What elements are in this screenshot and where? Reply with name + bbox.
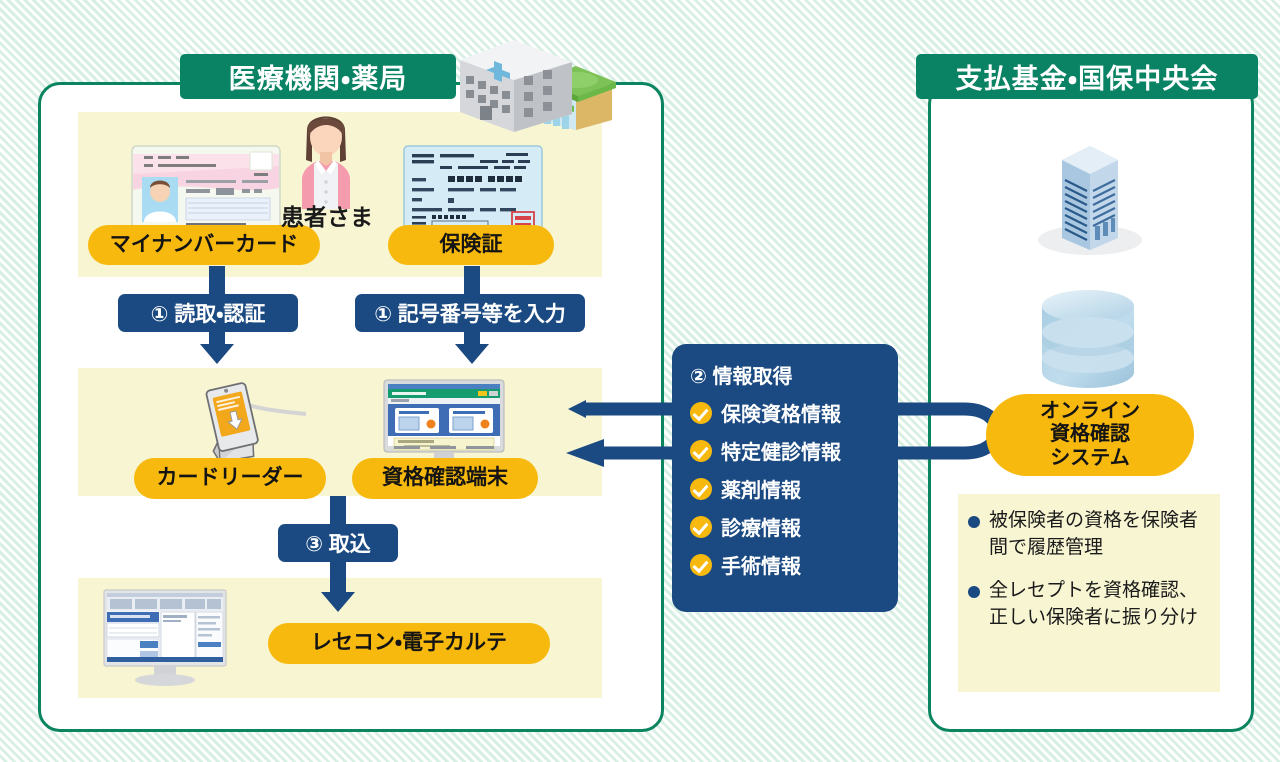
info-item-label: 保険資格情報: [721, 398, 841, 427]
info-item: 薬剤情報: [690, 474, 898, 503]
my-number-card-image: [130, 144, 282, 236]
info-item-label: 特定健診情報: [721, 436, 841, 465]
database-icon: [1032, 282, 1144, 394]
note-item: 全レセプトを資格確認、正しい保険者に振り分け: [968, 578, 1214, 632]
system-pill-line-2: 資格確認: [1050, 423, 1130, 447]
panel-header-medical-institution: 医療機関・薬局: [180, 54, 456, 99]
health-insurance-card-image: [402, 144, 544, 236]
info-item: 特定健診情報: [690, 436, 898, 465]
step-badge-import: ③ 取込: [278, 524, 398, 562]
pill-online-verification-system[interactable]: オンライン 資格確認 システム: [986, 394, 1194, 476]
note-text: 被保険者の資格を保険者間で履歴管理: [989, 508, 1214, 562]
step-badge-enter-number: ① 記号番号等を入力: [355, 294, 585, 332]
diagram-canvas: 医療機関・薬局 支払基金・国保中央会: [0, 0, 1280, 762]
panel-header-payment-fund: 支払基金・国保中央会: [916, 54, 1258, 99]
check-circle-icon: [690, 440, 712, 462]
info-item: 保険資格情報: [690, 398, 898, 427]
check-circle-icon: [690, 554, 712, 576]
pill-health-insurance-card[interactable]: 保険証: [388, 225, 554, 265]
note-item: 被保険者の資格を保険者間で履歴管理: [968, 508, 1214, 562]
bullet-dot-icon: [968, 516, 980, 528]
pill-receipt-computer-karte[interactable]: レセコン・電子カルテ: [268, 623, 550, 664]
patient-avatar-icon: [288, 104, 364, 209]
info-item-label: 手術情報: [721, 550, 801, 579]
system-notes-list: 被保険者の資格を保険者間で履歴管理 全レセプトを資格確認、正しい保険者に振り分け: [968, 508, 1214, 648]
electronic-karte-monitor-icon: [100, 588, 230, 688]
info-item-label: 薬剤情報: [721, 474, 801, 503]
info-item: 手術情報: [690, 550, 898, 579]
card-reader-icon: [190, 378, 308, 470]
info-item: 診療情報: [690, 512, 898, 541]
note-text: 全レセプトを資格確認、正しい保険者に振り分け: [989, 578, 1214, 632]
info-item-label: 診療情報: [721, 512, 801, 541]
check-circle-icon: [690, 516, 712, 538]
info-card-title: ② 情報取得: [690, 360, 898, 389]
info-acquisition-card: ② 情報取得 保険資格情報 特定健診情報 薬剤情報 診療情報 手術情報: [672, 344, 898, 612]
system-pill-line-1: オンライン: [1040, 400, 1140, 424]
bullet-dot-icon: [968, 586, 980, 598]
check-circle-icon: [690, 402, 712, 424]
office-tower-icon: [1032, 130, 1148, 260]
step-badge-read-authenticate: ① 読取・認証: [118, 294, 298, 332]
system-pill-line-3: システム: [1050, 447, 1129, 471]
check-circle-icon: [690, 478, 712, 500]
hospital-pharmacy-icon: [448, 24, 620, 134]
pill-verification-terminal[interactable]: 資格確認端末: [352, 458, 538, 499]
patient-label: 患者さま: [272, 198, 382, 232]
pill-card-reader[interactable]: カードリーダー: [134, 458, 326, 499]
